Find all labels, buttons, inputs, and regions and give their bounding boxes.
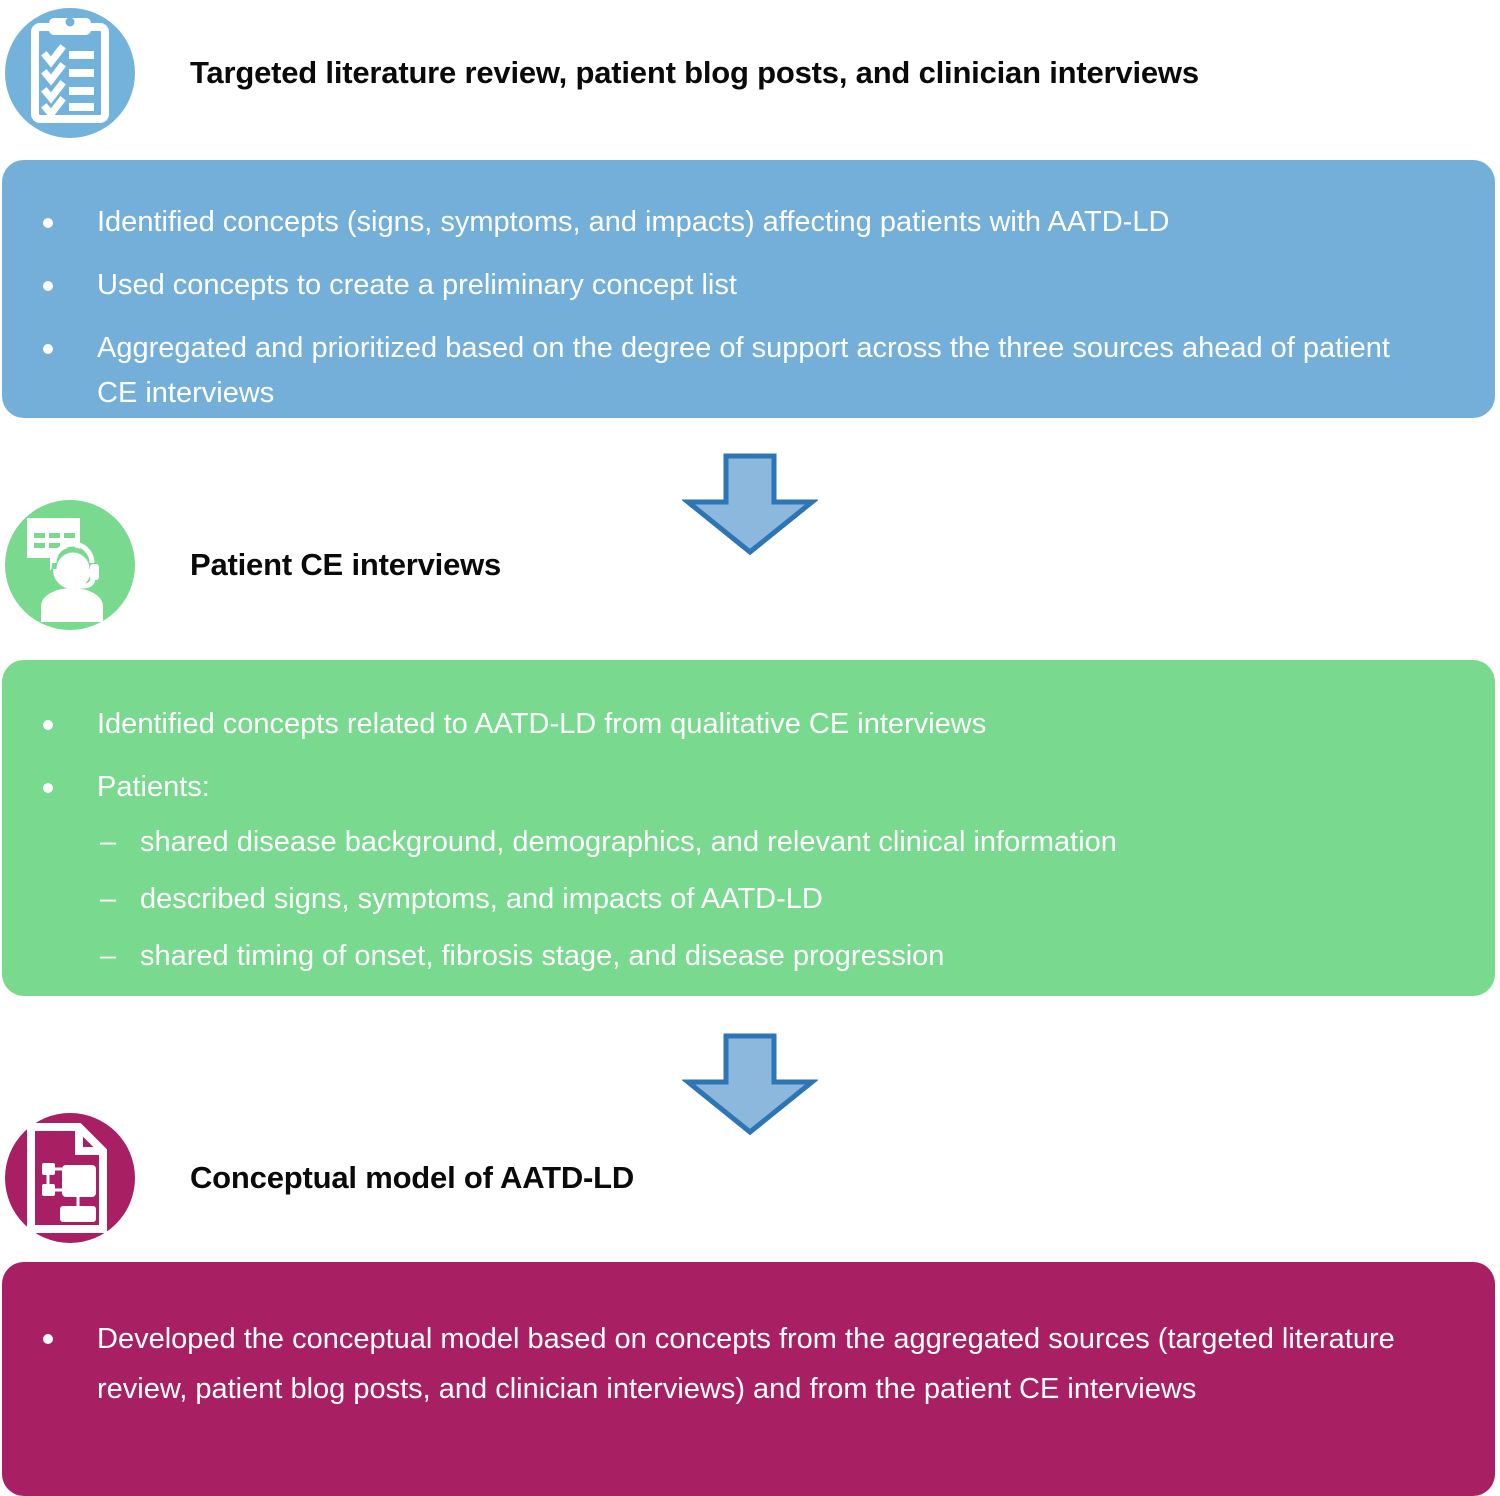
stage-header-patient-ce-interviews: Patient CE interviews xyxy=(0,500,501,630)
sub-list-patients: – shared disease background, demographic… xyxy=(97,820,1450,979)
dash-icon: – xyxy=(100,877,116,922)
dash-icon: – xyxy=(100,820,116,865)
dash-icon: – xyxy=(100,934,116,979)
bullet-dot-icon xyxy=(43,344,53,354)
stage-title-sources: Targeted literature review, patient blog… xyxy=(190,55,1199,91)
bullet-dot-icon xyxy=(43,1334,53,1344)
bullet-list-sources: Identified concepts (signs, symptoms, an… xyxy=(2,200,1450,416)
bullet-list-patient-ce-interviews: Identified concepts related to AATD-LD f… xyxy=(2,702,1450,979)
list-item-text: Patients: xyxy=(97,771,210,803)
list-item: Identified concepts (signs, symptoms, an… xyxy=(2,200,1450,245)
list-item: Developed the conceptual model based on … xyxy=(2,1314,1405,1414)
list-item: Aggregated and prioritized based on the … xyxy=(2,326,1450,416)
bullet-dot-icon xyxy=(43,281,53,291)
stage-box-conceptual-model: Developed the conceptual model based on … xyxy=(2,1262,1495,1496)
interview-headset-glyph xyxy=(5,500,135,630)
stage-header-sources: Targeted literature review, patient blog… xyxy=(0,0,1199,145)
list-item: Patients: – shared disease background, d… xyxy=(2,765,1450,979)
list-item-text: Developed the conceptual model based on … xyxy=(97,1323,1395,1405)
stage-header-conceptual-model: Conceptual model of AATD-LD xyxy=(0,1110,634,1245)
sub-list-item: – shared disease background, demographic… xyxy=(97,820,1450,865)
sub-list-item-text: shared timing of onset, fibrosis stage, … xyxy=(140,940,944,972)
down-arrow-glyph xyxy=(682,452,818,556)
down-arrow-icon xyxy=(682,1032,818,1136)
stage-title-conceptual-model: Conceptual model of AATD-LD xyxy=(190,1160,634,1196)
interview-headset-icon xyxy=(5,500,135,630)
stage-box-sources: Identified concepts (signs, symptoms, an… xyxy=(2,160,1495,418)
stage-box-patient-ce-interviews: Identified concepts related to AATD-LD f… xyxy=(2,660,1495,996)
stage-title-patient-ce-interviews: Patient CE interviews xyxy=(190,547,501,583)
list-item-text: Identified concepts related to AATD-LD f… xyxy=(97,708,986,740)
bullet-dot-icon xyxy=(43,783,53,793)
list-item-text: Used concepts to create a preliminary co… xyxy=(97,269,737,301)
down-arrow-icon xyxy=(682,452,818,556)
bullet-dot-icon xyxy=(43,720,53,730)
sub-list-item-text: shared disease background, demographics,… xyxy=(140,826,1117,858)
bullet-list-conceptual-model: Developed the conceptual model based on … xyxy=(2,1314,1405,1414)
down-arrow-glyph xyxy=(682,1032,818,1136)
clipboard-checklist-glyph xyxy=(5,8,135,138)
sub-list-item-text: described signs, symptoms, and impacts o… xyxy=(140,883,823,915)
list-item-text: Identified concepts (signs, symptoms, an… xyxy=(97,206,1169,238)
sub-list-item: – described signs, symptoms, and impacts… xyxy=(97,877,1450,922)
bullet-dot-icon xyxy=(43,218,53,228)
document-flowchart-glyph xyxy=(5,1113,135,1243)
list-item-text: Aggregated and prioritized based on the … xyxy=(97,332,1390,409)
list-item: Identified concepts related to AATD-LD f… xyxy=(2,702,1450,747)
document-flowchart-icon xyxy=(5,1113,135,1243)
list-item: Used concepts to create a preliminary co… xyxy=(2,263,1450,308)
clipboard-checklist-icon xyxy=(5,8,135,138)
sub-list-item: – shared timing of onset, fibrosis stage… xyxy=(97,934,1450,979)
